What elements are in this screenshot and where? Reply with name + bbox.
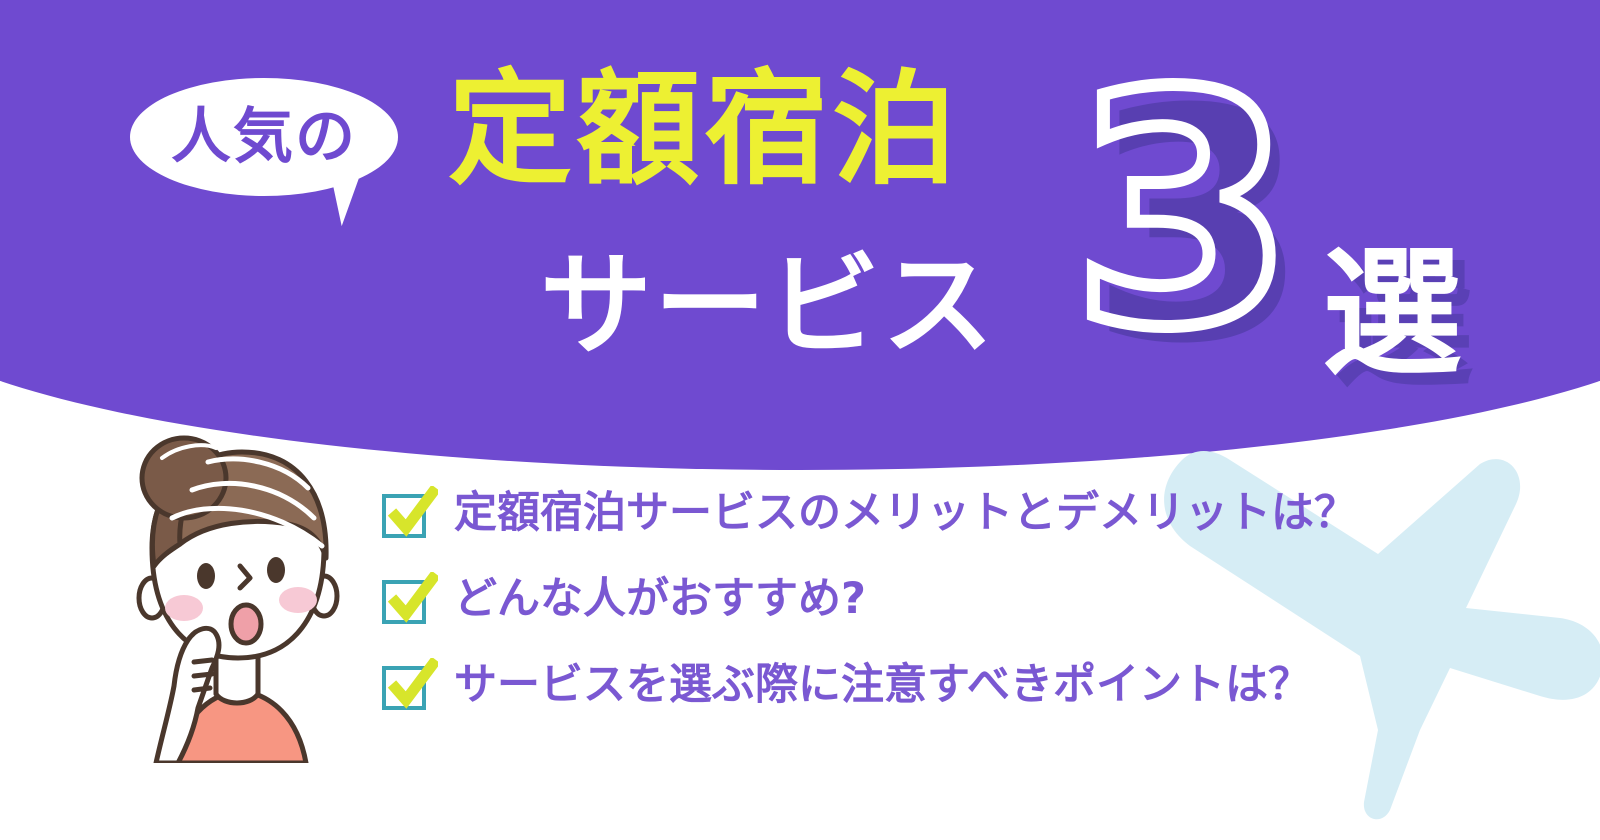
checklist-item[interactable]: どんな人がおすすめ? — [382, 576, 1357, 624]
checklist: 定額宿泊サービスのメリットとデメリットは？ どんな人がおすすめ? サービスを選ぶ… — [382, 490, 1357, 710]
check-icon — [386, 572, 438, 624]
check-icon — [386, 658, 438, 710]
checkbox-checked-icon[interactable] — [382, 576, 430, 624]
checklist-item-label: どんな人がおすすめ? — [454, 576, 866, 623]
count-number: 3 — [1072, 52, 1295, 372]
checklist-item[interactable]: 定額宿泊サービスのメリットとデメリットは？ — [382, 490, 1357, 538]
checklist-item-label: サービスを選ぶ際に注意すべきポイントは？ — [454, 662, 1311, 709]
checkbox-checked-icon[interactable] — [382, 490, 430, 538]
title-line-2: サービス — [540, 245, 996, 368]
popular-badge: 人気の — [130, 78, 398, 196]
count-suffix: 選 — [1322, 245, 1462, 385]
thinking-woman-illustration — [112, 418, 364, 763]
checklist-item[interactable]: サービスを選ぶ際に注意すべきポイントは？ — [382, 662, 1357, 710]
checklist-item-label: 定額宿泊サービスのメリットとデメリットは？ — [454, 490, 1357, 537]
title-line-1: 定額宿泊 — [448, 62, 960, 198]
popular-badge-label: 人気の — [171, 107, 357, 167]
checkbox-checked-icon[interactable] — [382, 662, 430, 710]
promo-banner: 人気の 定額宿泊 サービス 3 選 — [0, 0, 1600, 840]
check-icon — [386, 486, 438, 538]
